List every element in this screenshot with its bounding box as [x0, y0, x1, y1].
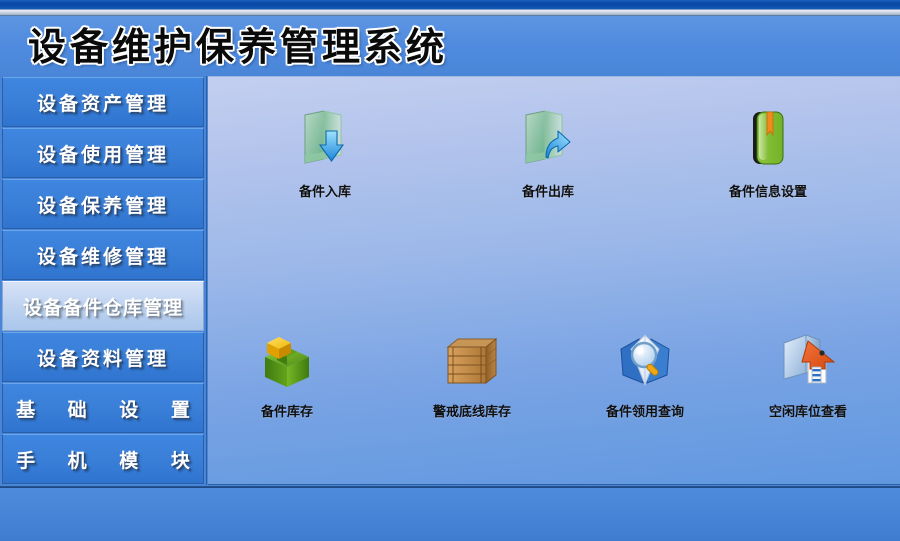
module-icon-label: 备件出库: [522, 181, 574, 200]
book-magnifier-icon[interactable]: [613, 325, 677, 397]
status-bar-content: [0, 489, 900, 541]
folder-house-icon[interactable]: [776, 325, 840, 397]
module-icon-label: 备件领用查询: [606, 401, 684, 420]
module-icon-grid: 备件入库 备件出库 备件信息设置: [208, 77, 900, 484]
module-icon-2[interactable]: 备件信息设置: [708, 105, 828, 200]
module-icon-4[interactable]: 警戒底线库存: [412, 325, 532, 420]
sidebar-item-label: 设备资产管理: [37, 89, 169, 116]
window-titlebar: [0, 0, 900, 10]
green-book-icon[interactable]: [736, 105, 800, 177]
sidebar-item-5[interactable]: 设备资料管理: [2, 332, 204, 382]
sidebar-nav: 设备资产管理设备使用管理设备保养管理设备维修管理设备备件仓库管理设备资料管理基 …: [0, 76, 207, 485]
sidebar-item-label: 设备使用管理: [37, 140, 169, 167]
sidebar-item-7[interactable]: 手 机 模 块: [2, 434, 204, 484]
module-icon-5[interactable]: 备件领用查询: [585, 325, 705, 420]
sidebar-item-4[interactable]: 设备备件仓库管理: [2, 281, 204, 331]
sidebar-item-6[interactable]: 基 础 设 置: [2, 383, 204, 433]
module-icon-label: 备件入库: [299, 181, 351, 200]
module-icon-6[interactable]: 空闲库位查看: [748, 325, 868, 420]
module-icon-0[interactable]: 备件入库: [265, 105, 385, 200]
workspace: 设备资产管理设备使用管理设备保养管理设备维修管理设备备件仓库管理设备资料管理基 …: [0, 76, 900, 485]
module-icon-label: 备件信息设置: [729, 181, 807, 200]
page-title: 设备维护保养管理系统: [28, 22, 448, 72]
folder-down-arrow-icon[interactable]: [293, 105, 357, 177]
application-window: 设备维护保养管理系统 设备资产管理设备使用管理设备保养管理设备维修管理设备备件仓…: [0, 0, 900, 541]
module-icon-label: 空闲库位查看: [769, 401, 847, 420]
titlebar-highlight: [0, 0, 900, 3]
module-icon-label: 备件库存: [261, 401, 313, 420]
sidebar-item-label: 设备资料管理: [37, 344, 169, 371]
sidebar-item-3[interactable]: 设备维修管理: [2, 230, 204, 280]
wooden-crate-icon[interactable]: [440, 325, 504, 397]
content-panel: 备件入库 备件出库 备件信息设置: [208, 76, 900, 485]
app-banner: 设备维护保养管理系统: [0, 16, 900, 76]
sidebar-item-2[interactable]: 设备保养管理: [2, 179, 204, 229]
folder-out-arrow-icon[interactable]: [516, 105, 580, 177]
status-bar-divider: [0, 487, 900, 488]
status-bar: [0, 486, 900, 541]
green-cube-stack-icon[interactable]: [255, 325, 319, 397]
sidebar-item-label: 手 机 模 块: [3, 446, 203, 473]
sidebar-item-label: 基 础 设 置: [3, 395, 203, 422]
sidebar-item-1[interactable]: 设备使用管理: [2, 128, 204, 178]
module-icon-3[interactable]: 备件库存: [227, 325, 347, 420]
module-icon-label: 警戒底线库存: [433, 401, 511, 420]
module-icon-1[interactable]: 备件出库: [488, 105, 608, 200]
sidebar-item-label: 设备保养管理: [37, 191, 169, 218]
sidebar-item-label: 设备维修管理: [37, 242, 169, 269]
sidebar-item-0[interactable]: 设备资产管理: [2, 77, 204, 127]
sidebar-item-label: 设备备件仓库管理: [23, 293, 183, 320]
